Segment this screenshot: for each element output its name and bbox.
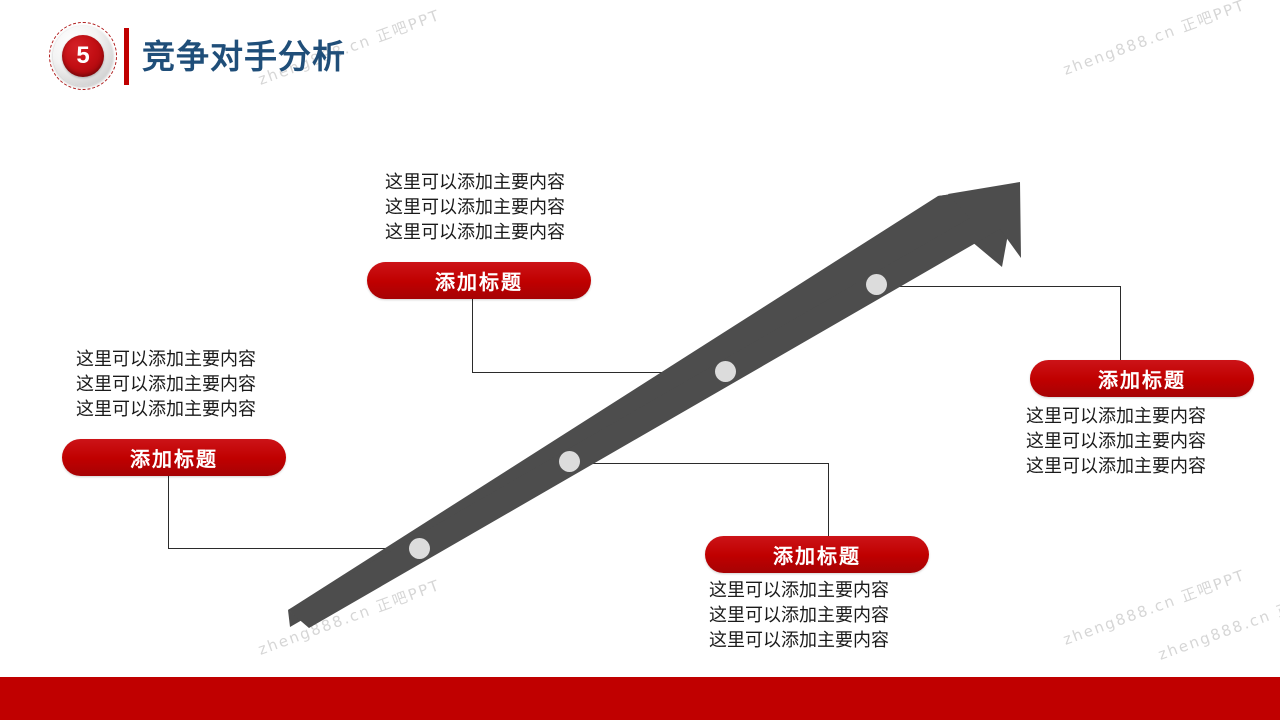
group-topcenter-text: 这里可以添加主要内容 这里可以添加主要内容 这里可以添加主要内容 [385, 170, 565, 245]
connector-topcenter-horizontal [472, 372, 722, 373]
group-left-line-1: 这里可以添加主要内容 [76, 347, 256, 372]
group-topcenter-line-1: 这里可以添加主要内容 [385, 170, 565, 195]
group-bottomcenter-pill[interactable]: 添加标题 [705, 536, 929, 573]
badge-ring: 5 [53, 26, 113, 86]
badge-number: 5 [62, 35, 104, 77]
group-right-pill[interactable]: 添加标题 [1030, 360, 1254, 397]
arrow-marker-4 [866, 274, 887, 295]
slide-header: 5 竞争对手分析 [0, 0, 1280, 110]
connector-topcenter-vertical [472, 299, 473, 373]
connector-right-vertical [1120, 286, 1121, 360]
connector-left-horizontal [168, 548, 416, 549]
slide-number-badge: 5 [49, 22, 117, 90]
connector-right-horizontal [881, 286, 1121, 287]
group-left-pill[interactable]: 添加标题 [62, 439, 286, 476]
connector-left-vertical [168, 476, 169, 549]
group-bottomcenter-text: 这里可以添加主要内容 这里可以添加主要内容 这里可以添加主要内容 [709, 578, 889, 653]
group-right-line-3: 这里可以添加主要内容 [1026, 454, 1206, 479]
arrow-marker-1 [409, 538, 430, 559]
slide-canvas: zheng888.cn 正吧PPT zheng888.cn 正吧PPT zhen… [0, 0, 1280, 720]
connector-bottomcenter-horizontal [575, 463, 829, 464]
group-right-line-1: 这里可以添加主要内容 [1026, 404, 1206, 429]
group-right-text: 这里可以添加主要内容 这里可以添加主要内容 这里可以添加主要内容 [1026, 404, 1206, 479]
group-left-text: 这里可以添加主要内容 这里可以添加主要内容 这里可以添加主要内容 [76, 347, 256, 422]
arrow-marker-2 [559, 451, 580, 472]
group-bottomcenter-line-2: 这里可以添加主要内容 [709, 603, 889, 628]
group-left-line-3: 这里可以添加主要内容 [76, 397, 256, 422]
connector-bottomcenter-vertical [828, 463, 829, 536]
page-title: 竞争对手分析 [142, 30, 346, 78]
watermark: zheng888.cn 正吧PPT [255, 574, 443, 660]
group-topcenter-pill[interactable]: 添加标题 [367, 262, 591, 299]
arrow-marker-3 [715, 361, 736, 382]
footer-bar [0, 677, 1280, 720]
group-topcenter-line-2: 这里可以添加主要内容 [385, 195, 565, 220]
group-bottomcenter-line-1: 这里可以添加主要内容 [709, 578, 889, 603]
group-right-line-2: 这里可以添加主要内容 [1026, 429, 1206, 454]
group-bottomcenter-line-3: 这里可以添加主要内容 [709, 628, 889, 653]
group-topcenter-line-3: 这里可以添加主要内容 [385, 220, 565, 245]
title-accent-bar [124, 28, 129, 85]
group-left-line-2: 这里可以添加主要内容 [76, 372, 256, 397]
